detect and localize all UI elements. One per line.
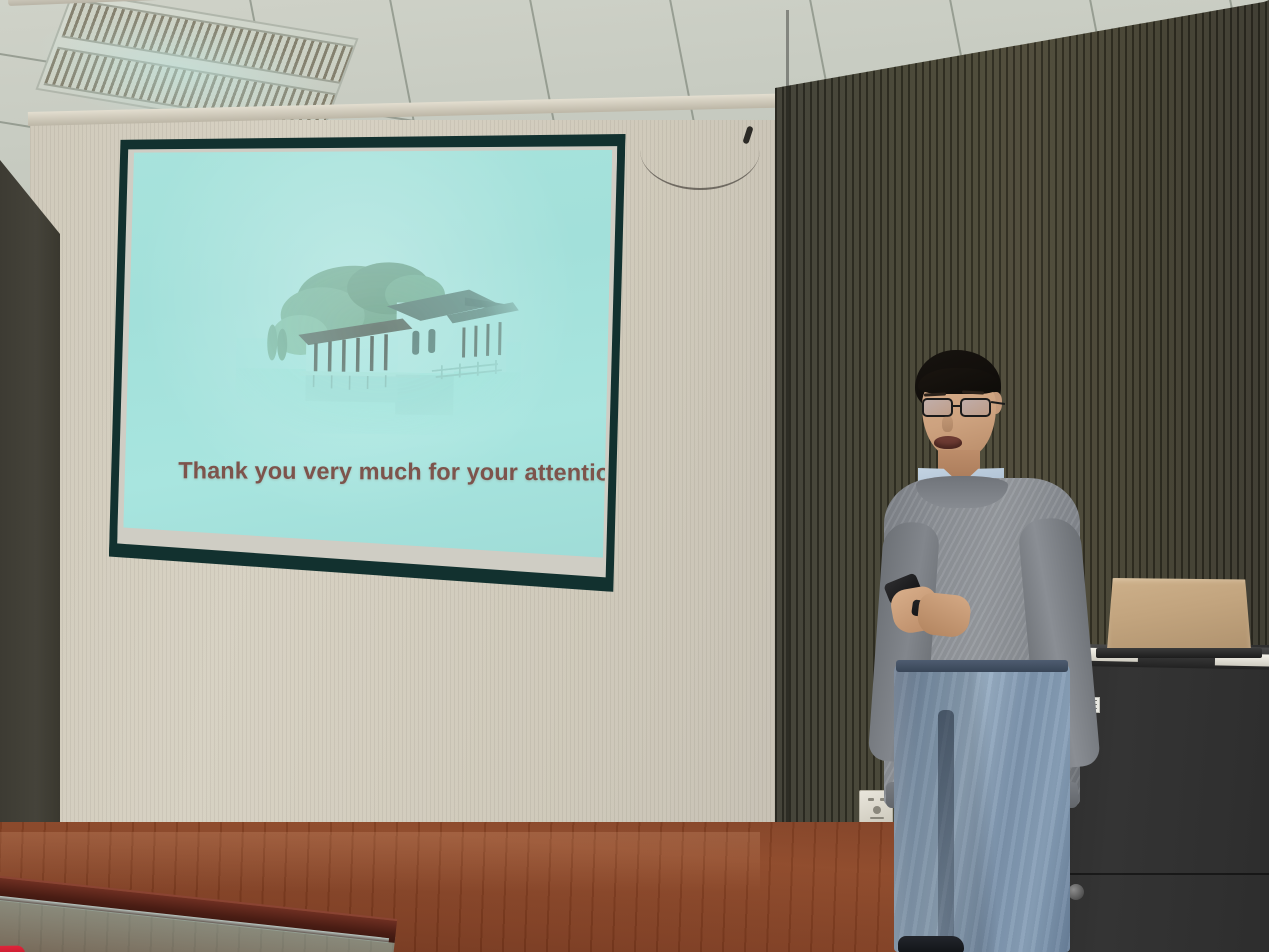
presenter-mouth [934, 436, 962, 449]
apple-logo-icon [1169, 602, 1189, 625]
presentation-room-photo: Thank you very much for your attention [0, 0, 1269, 952]
eyeglasses-icon [920, 398, 1000, 417]
glasses-lens-right [960, 398, 991, 417]
presenter-hand-right [916, 591, 972, 638]
left-dark-column [0, 160, 60, 900]
slide-title-text: Thank you very much for your attention [178, 457, 598, 486]
red-object-on-table[interactable] [0, 946, 25, 952]
glasses-temple [991, 401, 1005, 405]
floor-reflection [0, 832, 760, 892]
presenter-nose [942, 416, 953, 432]
projection-screen: Thank you very much for your attention [108, 126, 625, 592]
projected-slide: Thank you very much for your attention [123, 140, 612, 560]
jeans-leg-gap [938, 710, 954, 952]
laptop-base [1096, 648, 1262, 658]
glasses-bridge [953, 405, 962, 407]
wall-divider-seam [786, 10, 789, 870]
macbook-laptop[interactable] [1107, 578, 1251, 650]
jeans-waistband [896, 660, 1068, 672]
glasses-lens-left [922, 398, 953, 417]
slide-photo-pavilion [235, 242, 523, 436]
presenter-shoe [898, 936, 964, 952]
jeans [894, 662, 1070, 952]
presenter [860, 350, 1110, 952]
presenter-hair-fringe [918, 368, 1000, 394]
